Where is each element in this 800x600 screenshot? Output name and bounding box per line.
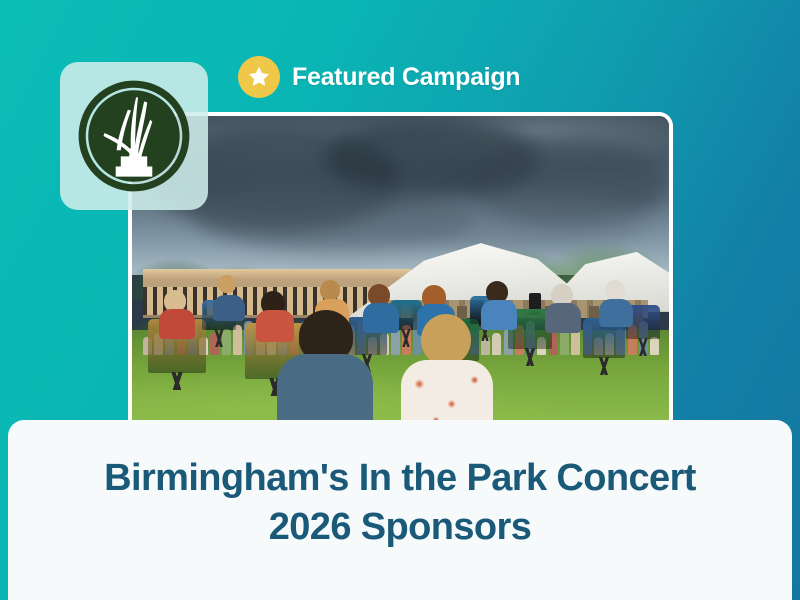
star-icon	[238, 56, 280, 98]
photo-person	[599, 299, 633, 327]
photo-person	[159, 309, 195, 339]
photo-pavilion-roof	[143, 269, 412, 278]
organization-logo-tile	[60, 62, 208, 210]
photo-foreground-person	[277, 310, 373, 422]
photo-person	[545, 303, 581, 333]
concert-photo	[132, 116, 669, 422]
campaign-hero-banner: Featured Campaign	[0, 0, 800, 600]
photo-person	[605, 280, 625, 300]
photo-person	[213, 295, 245, 321]
campaign-title: Birmingham's In the Park Concert 2026 Sp…	[104, 454, 696, 551]
featured-campaign-label: Featured Campaign	[292, 63, 520, 92]
photo-person	[320, 280, 340, 300]
organization-logo-icon	[73, 75, 195, 197]
hero-image-card	[128, 112, 673, 422]
photo-foreground-person	[401, 314, 493, 422]
title-card: Birmingham's In the Park Concert 2026 Sp…	[8, 420, 792, 600]
featured-campaign-badge: Featured Campaign	[238, 56, 520, 98]
photo-person	[218, 275, 236, 293]
